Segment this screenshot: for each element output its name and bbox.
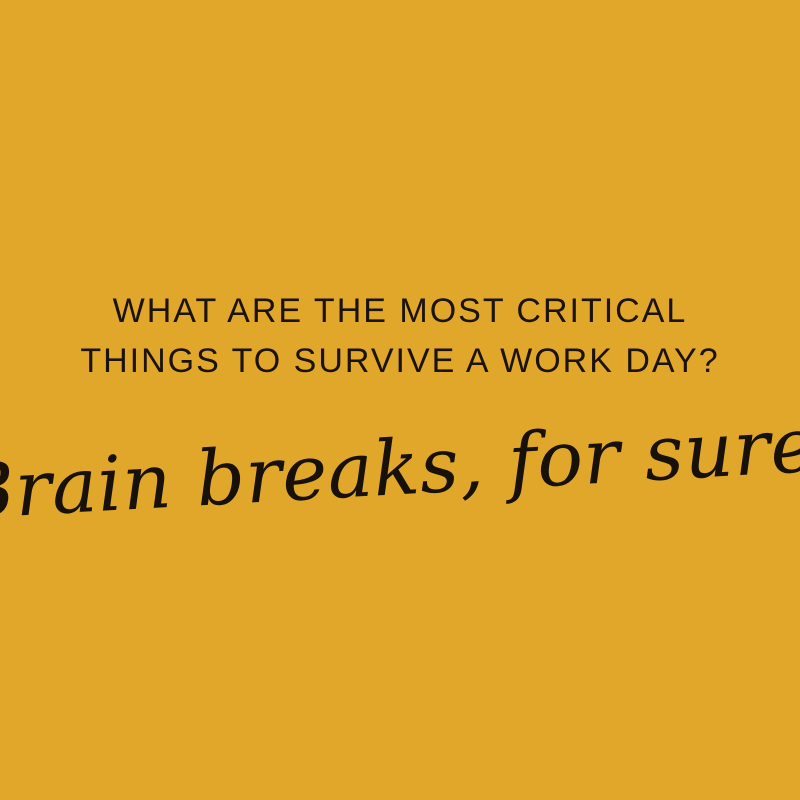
quote-card: WHAT ARE THE MOST CRITICAL THINGS TO SUR…: [0, 0, 800, 800]
answer-script-svg: Brain breaks, for sure.: [0, 408, 800, 538]
quote-content: WHAT ARE THE MOST CRITICAL THINGS TO SUR…: [0, 286, 800, 538]
headline-line-1: WHAT ARE THE MOST CRITICAL: [40, 286, 760, 336]
headline-line-2: THINGS TO SURVIVE A WORK DAY?: [40, 336, 760, 386]
headline-question: WHAT ARE THE MOST CRITICAL THINGS TO SUR…: [40, 286, 760, 386]
answer-script-block: Brain breaks, for sure.: [0, 408, 800, 538]
answer-text: Brain breaks, for sure.: [0, 408, 800, 537]
